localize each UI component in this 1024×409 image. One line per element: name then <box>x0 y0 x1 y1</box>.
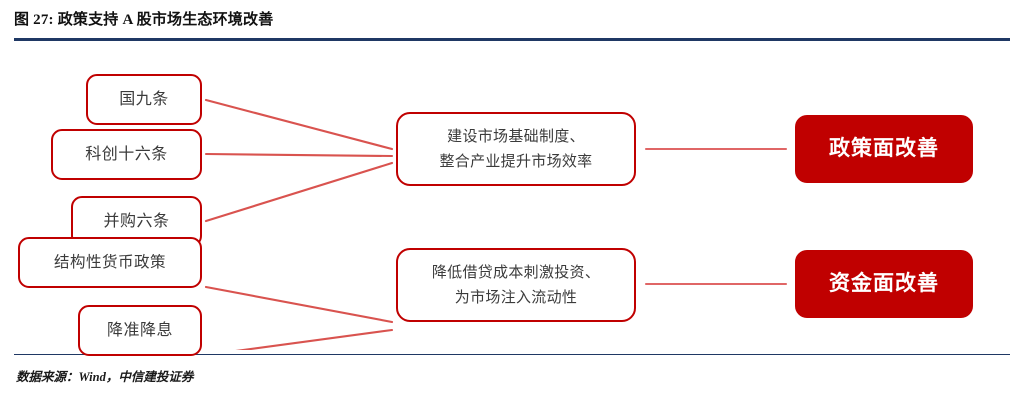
node-label: 建设市场基础制度、 整合产业提升市场效率 <box>439 124 592 174</box>
connector-guojiutiao-to-policy <box>206 100 392 149</box>
node-label: 降准降息 <box>107 320 173 341</box>
node-label: 国九条 <box>119 89 169 110</box>
node-middle-funding-effect[interactable]: 降低借贷成本刺激投资、 为市场注入流动性 <box>396 248 636 322</box>
node-input-kechuang16[interactable]: 科创十六条 <box>51 129 202 180</box>
node-label: 降低借贷成本刺激投资、 为市场注入流动性 <box>432 260 600 310</box>
node-outcome-funding[interactable]: 资金面改善 <box>795 250 973 318</box>
figure-root: 图 27: 政策支持 A 股市场生态环境改善 国九条 <box>0 0 1024 409</box>
node-label: 科创十六条 <box>85 144 168 165</box>
title-divider <box>14 38 1010 41</box>
page-title: 图 27: 政策支持 A 股市场生态环境改善 <box>14 10 273 30</box>
node-label: 并购六条 <box>103 211 169 232</box>
node-input-guojiutiao[interactable]: 国九条 <box>86 74 202 125</box>
source-note: 数据来源：Wind，中信建投证券 <box>16 366 193 385</box>
connector-jiangzhun-to-funding <box>206 330 392 350</box>
node-middle-policy-effect[interactable]: 建设市场基础制度、 整合产业提升市场效率 <box>396 112 636 186</box>
node-outcome-policy[interactable]: 政策面改善 <box>795 115 973 183</box>
connector-binggou6-to-policy <box>206 163 392 221</box>
diagram-canvas: 国九条 科创十六条 并购六条 结构性货币政策 降准降息 建设市场基础制度、 整合… <box>0 44 1024 350</box>
node-label: 政策面改善 <box>829 136 939 162</box>
connector-jiegouxing-to-funding <box>206 287 392 322</box>
connector-kechuang16-to-policy <box>206 154 392 156</box>
node-input-jiangzhun[interactable]: 降准降息 <box>78 305 202 356</box>
node-label: 资金面改善 <box>829 271 939 297</box>
node-label: 结构性货币政策 <box>54 252 166 273</box>
node-input-jiegouxing[interactable]: 结构性货币政策 <box>18 237 202 288</box>
